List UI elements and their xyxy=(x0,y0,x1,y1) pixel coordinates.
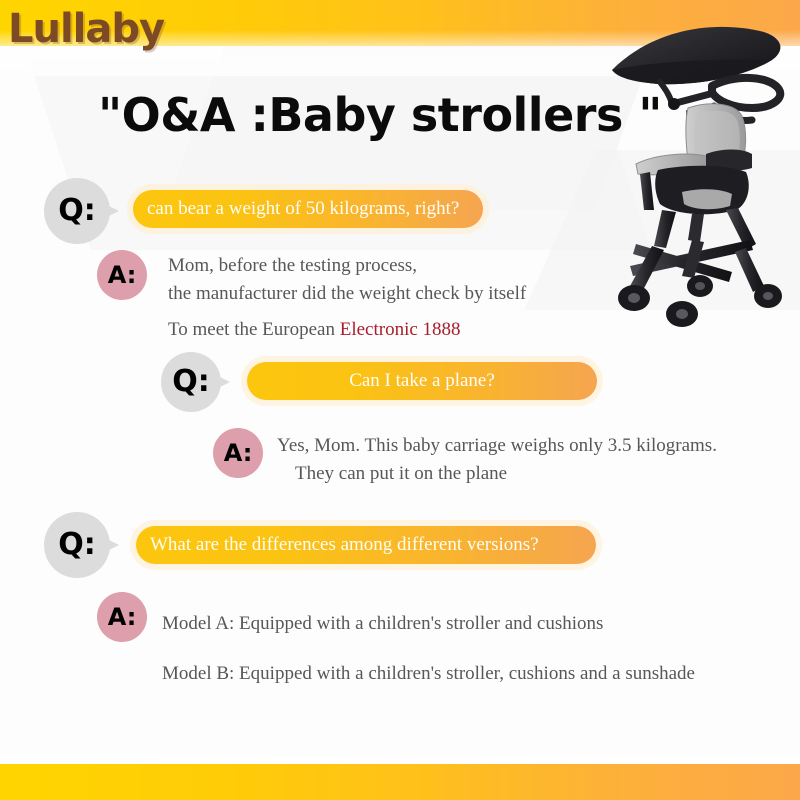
question-badge-label: Q: xyxy=(172,367,210,397)
answer-text-3: Model A: Equipped with a children's stro… xyxy=(162,610,695,687)
answer-line-2: They can put it on the plane xyxy=(295,460,717,488)
brand-logo: Lullaby xyxy=(8,6,164,52)
question-badge-label: Q: xyxy=(58,530,96,560)
answer-badge-3[interactable]: A: xyxy=(97,592,147,642)
answer-badge-label: A: xyxy=(108,263,137,287)
stroller-product-image xyxy=(596,14,796,334)
question-badge-1[interactable]: Q: xyxy=(44,178,110,244)
question-bubble-1[interactable]: can bear a weight of 50 kilograms, right… xyxy=(133,190,483,228)
answer-text-2: Yes, Mom. This baby carriage weighs only… xyxy=(277,432,717,487)
answer-text-1: Mom, before the testing process, the man… xyxy=(168,252,526,344)
answer-badge-1[interactable]: A: xyxy=(97,250,147,300)
question-bubble-2[interactable]: Can I take a plane? xyxy=(247,362,597,400)
answer-line-3-highlight: Electronic 1888 xyxy=(340,319,461,340)
question-text-2: Can I take a plane? xyxy=(349,370,495,392)
question-badge-3[interactable]: Q: xyxy=(44,512,110,578)
answer-badge-label: A: xyxy=(224,441,253,465)
question-bubble-3[interactable]: What are the differences among different… xyxy=(136,526,596,564)
question-badge-label: Q: xyxy=(58,196,96,226)
question-text-1: can bear a weight of 50 kilograms, right… xyxy=(147,198,459,220)
question-text-3: What are the differences among different… xyxy=(150,534,539,556)
answer-badge-label: A: xyxy=(108,605,137,629)
page-title: "O&A :Baby strollers " xyxy=(0,88,760,142)
answer-line-3-prefix: To meet the European xyxy=(168,319,340,340)
question-badge-2[interactable]: Q: xyxy=(161,352,221,412)
answer-line-2: Model B: Equipped with a children's stro… xyxy=(162,660,695,688)
answer-line-1: Yes, Mom. This baby carriage weighs only… xyxy=(277,432,717,460)
answer-line-1: Mom, before the testing process, xyxy=(168,252,526,280)
bottom-gradient-band xyxy=(0,764,800,800)
answer-line-3: To meet the European Electronic 1888 xyxy=(168,316,526,344)
answer-line-1: Model A: Equipped with a children's stro… xyxy=(162,610,695,638)
answer-badge-2[interactable]: A: xyxy=(213,428,263,478)
poster-canvas: Lullaby "O&A :Baby strollers " xyxy=(0,0,800,800)
answer-line-2: the manufacturer did the weight check by… xyxy=(168,280,526,308)
